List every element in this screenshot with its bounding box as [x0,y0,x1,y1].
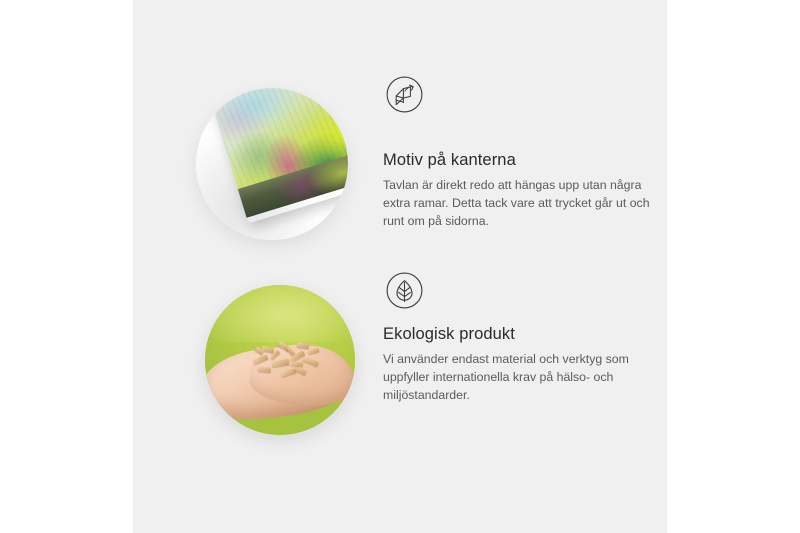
hands-holding-wood-chips-photo [205,285,355,435]
wood-chips-pile [250,339,328,384]
wrapped-canvas-edge-icon [386,76,423,113]
feature-copy: Ekologisk produkt Vi använder endast mat… [383,325,655,404]
photo-backdrop [205,285,355,435]
content-panel: Motiv på kanterna Tavlan är direkt redo … [133,0,667,533]
leaf-icon [386,272,423,309]
feature-title: Ekologisk produkt [383,325,655,345]
feature-description: Tavlan är direkt redo att hängas upp uta… [383,176,655,231]
grass-bokeh [205,285,355,342]
canvas-print-corner-photo [196,88,348,240]
product-feature-banner: Motiv på kanterna Tavlan är direkt redo … [0,0,800,533]
photo-backdrop [196,88,348,240]
feature-title: Motiv på kanterna [383,151,655,171]
feature-description: Vi använder endast material och verktyg … [383,350,655,405]
canvas-print-object [209,88,348,224]
feature-copy: Motiv på kanterna Tavlan är direkt redo … [383,151,655,230]
